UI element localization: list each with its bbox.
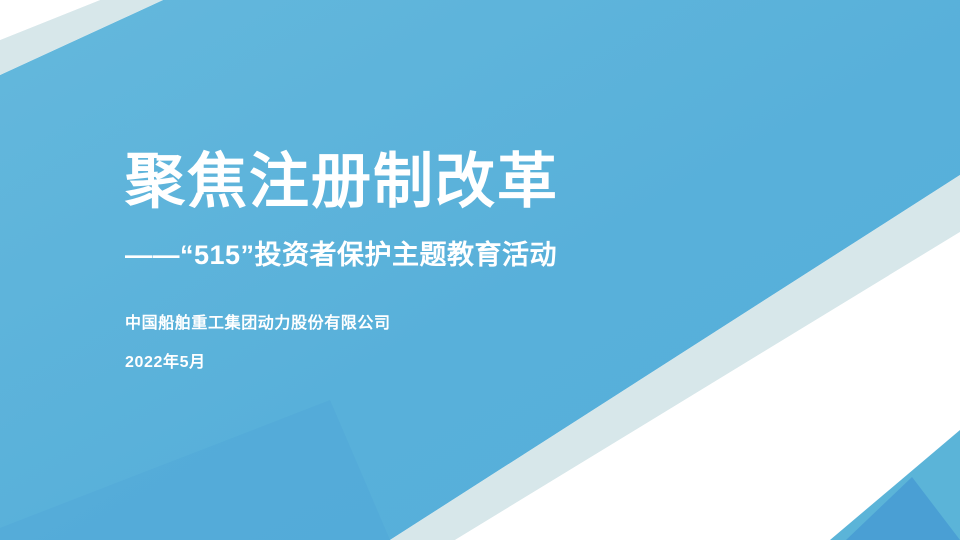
page-title: 聚焦注册制改革 xyxy=(125,148,845,215)
title-slide: 聚焦注册制改革 ——“515”投资者保护主题教育活动 中国船舶重工集团动力股份有… xyxy=(0,0,960,540)
slide-text-block: 聚焦注册制改革 ——“515”投资者保护主题教育活动 中国船舶重工集团动力股份有… xyxy=(125,148,845,372)
organization-name: 中国船舶重工集团动力股份有限公司 xyxy=(125,272,845,333)
slide-date: 2022年5月 xyxy=(125,333,845,372)
slide-subtitle: ——“515”投资者保护主题教育活动 xyxy=(125,215,845,271)
